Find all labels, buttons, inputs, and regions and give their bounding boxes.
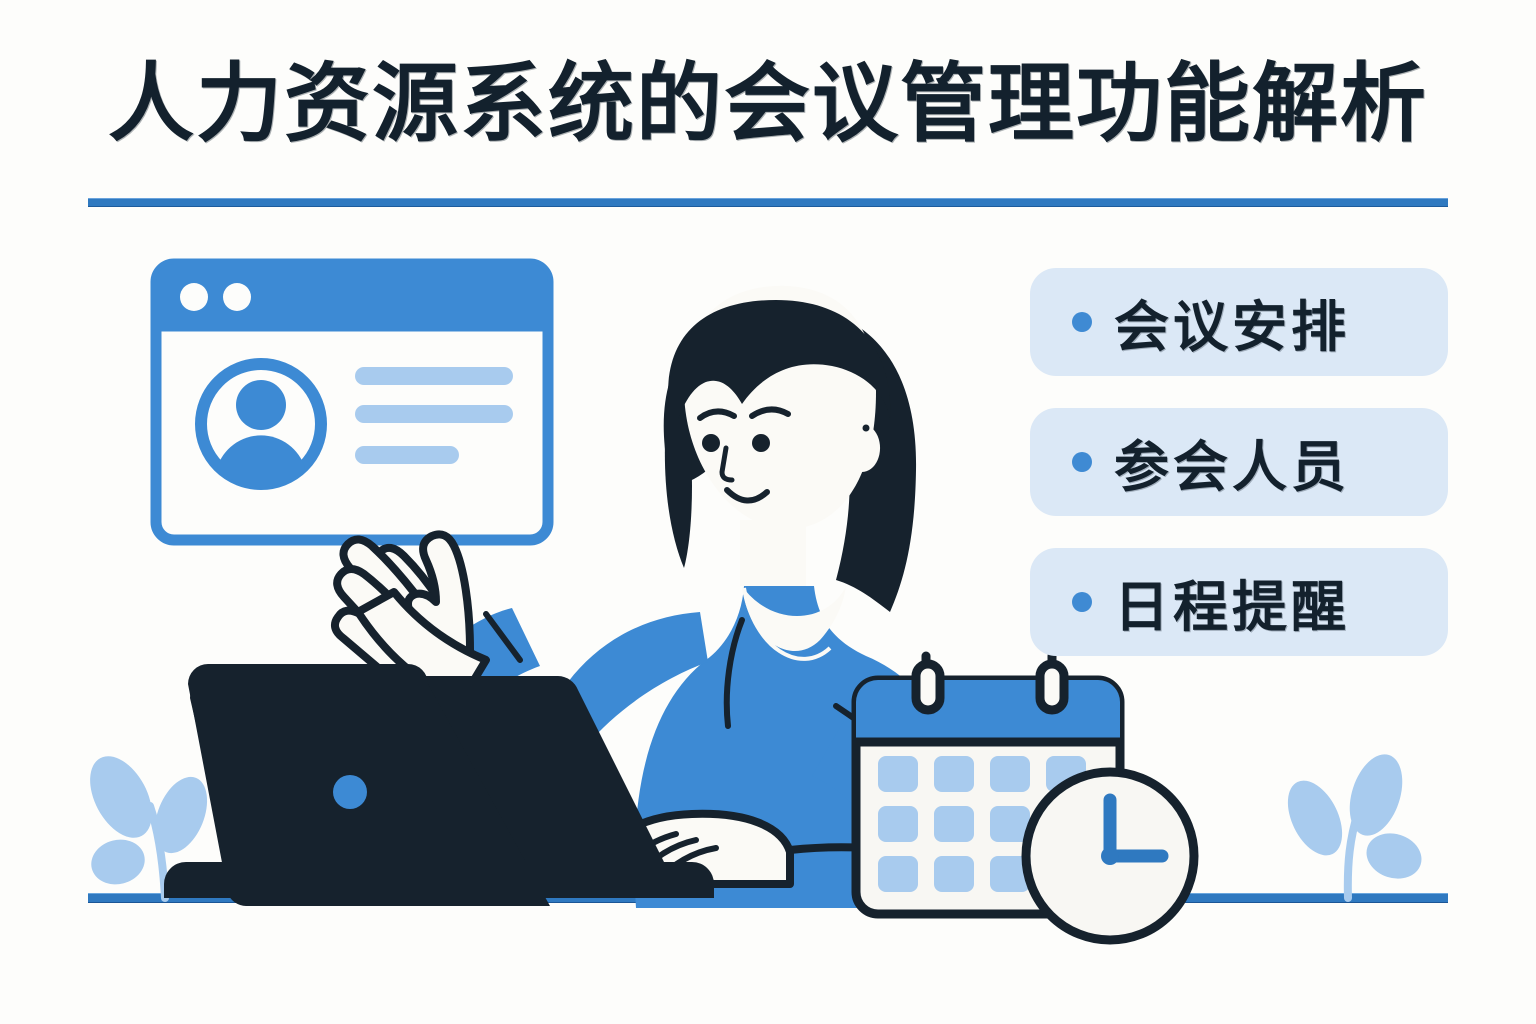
ground-baseline xyxy=(88,893,1448,903)
clock-illustration xyxy=(1026,772,1194,940)
feature-tag-label: 日程提醒 xyxy=(1114,562,1350,642)
feature-tag-label: 参会人员 xyxy=(1114,422,1350,502)
feature-tag-3[interactable]: 日程提醒 xyxy=(1030,548,1448,656)
title-divider-rule xyxy=(88,198,1448,207)
bullet-dot-icon xyxy=(1072,452,1092,472)
window-dot-1 xyxy=(180,283,208,311)
open-hand-gesture-icon xyxy=(335,534,486,700)
feature-tag-1[interactable]: 会议安排 xyxy=(1030,268,1448,376)
calendar-ring-1 xyxy=(916,664,940,710)
bullet-dot-icon xyxy=(1072,312,1092,332)
card-text-line-2 xyxy=(355,405,513,423)
feature-tag-2[interactable]: 参会人员 xyxy=(1030,408,1448,516)
person-illustration xyxy=(335,286,972,908)
page-title: 人力资源系统的会议管理功能解析 xyxy=(108,58,1428,151)
page-title-container: 人力资源系统的会议管理功能解析 xyxy=(0,58,1536,151)
eye-right xyxy=(752,434,770,452)
clock-center-dot xyxy=(1101,847,1119,865)
feature-tag-list: 会议安排 参会人员 日程提醒 xyxy=(1030,268,1448,688)
bullet-dot-icon xyxy=(1072,592,1092,612)
plant-right-icon xyxy=(1277,748,1428,898)
resting-hand-icon xyxy=(596,814,906,884)
feature-tag-label: 会议安排 xyxy=(1114,282,1350,362)
browser-window-illustration xyxy=(156,264,548,540)
window-dot-2 xyxy=(223,283,251,311)
calendar-illustration xyxy=(856,656,1120,914)
card-text-line-3 xyxy=(355,446,459,464)
laptop-logo-icon xyxy=(333,775,367,809)
poster-canvas: 人力资源系统的会议管理功能解析 xyxy=(0,0,1536,1024)
plant-left-icon xyxy=(77,746,217,898)
eye-left xyxy=(702,434,720,452)
laptop-illustration xyxy=(164,664,714,906)
card-text-line-1 xyxy=(355,367,513,385)
calendar-grid xyxy=(878,756,1086,892)
user-avatar-icon xyxy=(201,364,321,487)
